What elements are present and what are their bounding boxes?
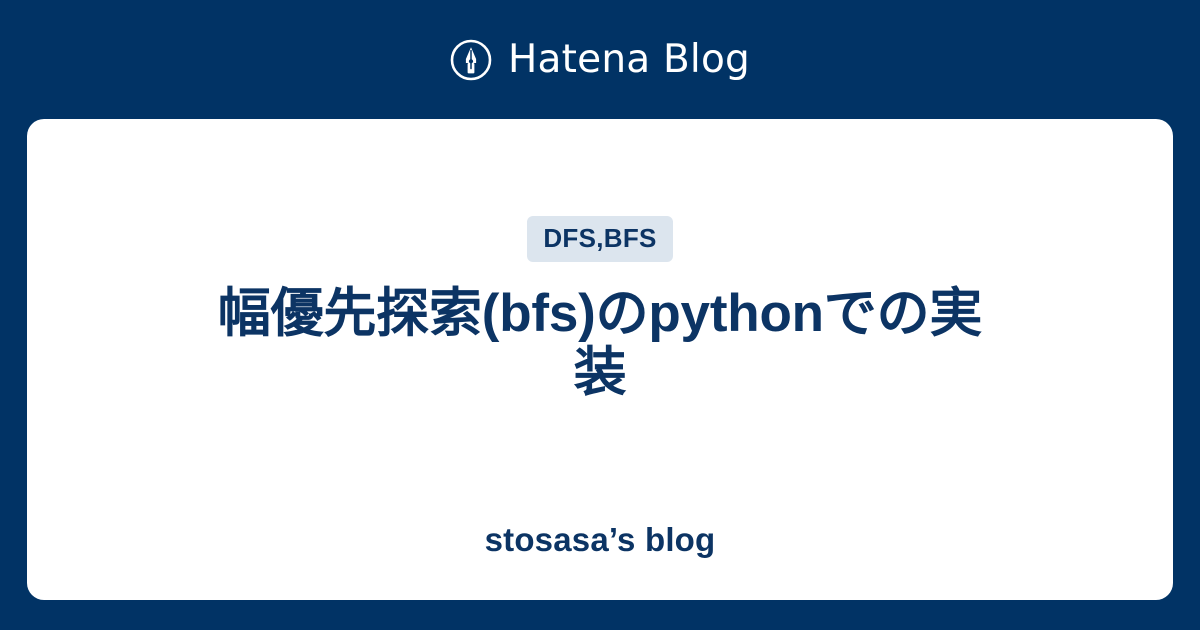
hatena-blog-wordmark: Hatena Blog bbox=[508, 40, 750, 79]
site-header: Hatena Blog bbox=[0, 0, 1200, 119]
entry-category-badge[interactable]: DFS,BFS bbox=[527, 216, 672, 262]
entry-card-body: DFS,BFS 幅優先探索(bfs)のpythonでの実装 bbox=[27, 119, 1173, 499]
blog-name: stosasa’s blog bbox=[27, 523, 1173, 556]
entry-title: 幅優先探索(bfs)のpythonでの実装 bbox=[200, 284, 1000, 403]
fountain-pen-nib-icon bbox=[450, 39, 492, 81]
entry-card: DFS,BFS 幅優先探索(bfs)のpythonでの実装 stosasa’s … bbox=[27, 119, 1173, 600]
